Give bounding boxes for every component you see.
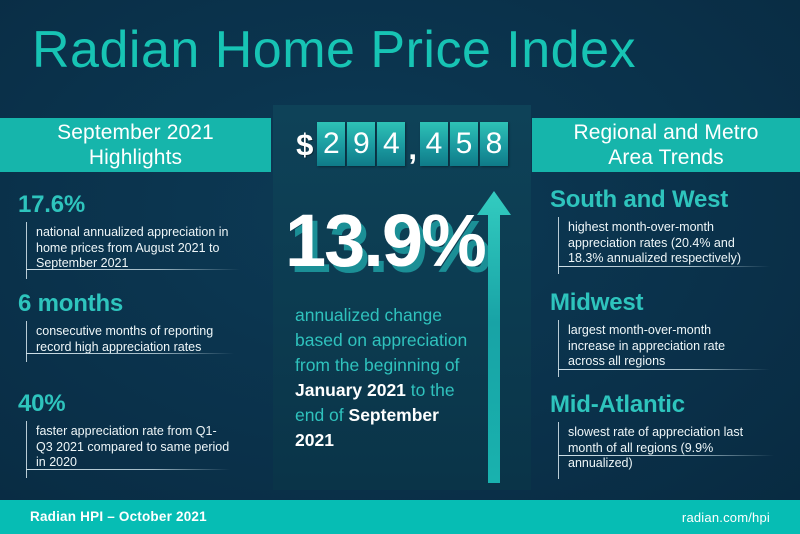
footer-website-link[interactable]: radian.com/hpi	[682, 510, 770, 525]
stat-value: 17.6%	[18, 191, 271, 219]
stat-underline	[558, 455, 774, 456]
right-header-line1: Regional and Metro	[573, 121, 758, 144]
stat-underline	[26, 353, 234, 354]
price-digit-tile: 4	[377, 122, 405, 166]
infographic-canvas: Radian Home Price Index September 2021 H…	[0, 0, 800, 534]
price-digit-tile: 5	[450, 122, 478, 166]
price-digit-tile: 9	[347, 122, 375, 166]
stat-underline	[26, 469, 230, 470]
left-column-header-text: September 2021 Highlights	[57, 120, 214, 170]
stat-value: Midwest	[550, 289, 800, 317]
price-digit-tile: 4	[420, 122, 448, 166]
paragraph-highlight-start-date: January 2021	[295, 380, 406, 400]
footer-source-label: Radian HPI – October 2021	[30, 509, 207, 524]
stat-value: 40%	[18, 390, 271, 418]
stat-description: national annualized appreciation in home…	[26, 222, 240, 279]
right-header-line2: Area Trends	[608, 146, 724, 169]
footer-bar: Radian HPI – October 2021 radian.com/hpi	[0, 500, 800, 534]
center-column: $ 2 9 4 , 4 5 8 13.9% annualized change …	[273, 105, 531, 490]
center-paragraph: annualized change based on appreciation …	[295, 303, 480, 453]
right-column-header-text: Regional and Metro Area Trends	[573, 120, 758, 170]
stat-underline	[558, 369, 770, 370]
up-arrow-icon	[477, 191, 511, 483]
stat-underline	[26, 269, 240, 270]
price-digit-tile: 2	[317, 122, 345, 166]
dollar-sign: $	[296, 129, 313, 160]
stat-item: 6 months consecutive months of reporting…	[0, 290, 271, 362]
price-digit-tile: 8	[480, 122, 508, 166]
stat-value: Mid-Atlantic	[550, 391, 800, 419]
page-title: Radian Home Price Index	[32, 20, 636, 80]
left-column: September 2021 Highlights 17.6% national…	[0, 118, 271, 500]
paragraph-part1: annualized change based on appreciation …	[295, 305, 467, 375]
price-display: $ 2 9 4 , 4 5 8	[273, 122, 531, 166]
stat-underline	[558, 266, 770, 267]
title-bar: Radian Home Price Index	[0, 0, 800, 118]
left-header-line2: Highlights	[89, 146, 182, 169]
big-percent-value: 13.9%	[285, 204, 485, 278]
right-column: Regional and Metro Area Trends South and…	[532, 118, 800, 500]
stat-item: Midwest largest month-over-month increas…	[532, 289, 800, 377]
stat-item: 40% faster appreciation rate from Q1-Q3 …	[0, 390, 271, 478]
stat-description: slowest rate of appreciation last month …	[558, 422, 774, 479]
right-column-header: Regional and Metro Area Trends	[532, 118, 800, 172]
stat-item: Mid-Atlantic slowest rate of appreciatio…	[532, 391, 800, 479]
left-column-header: September 2021 Highlights	[0, 118, 271, 172]
stat-value: South and West	[550, 186, 800, 214]
price-comma: ,	[408, 133, 417, 164]
stat-description: consecutive months of reporting record h…	[26, 321, 234, 362]
stat-value: 6 months	[18, 290, 271, 318]
left-header-line1: September 2021	[57, 121, 214, 144]
stat-item: South and West highest month-over-month …	[532, 186, 800, 274]
stat-item: 17.6% national annualized appreciation i…	[0, 191, 271, 279]
